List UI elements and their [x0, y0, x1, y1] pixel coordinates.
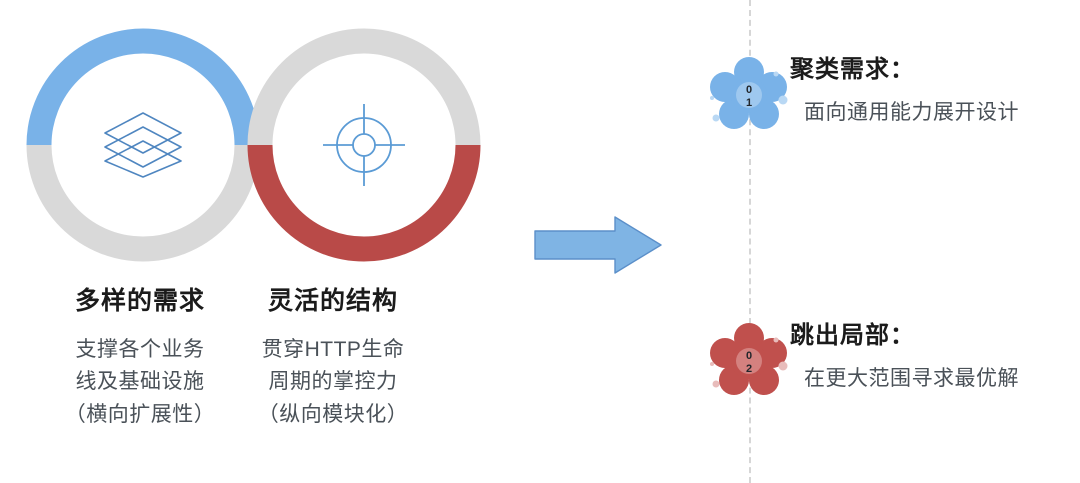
caption-title-2: 灵活的结构 — [238, 288, 428, 316]
flower-badge-01-icon: 0 1 — [706, 52, 792, 138]
caption-line: （纵向模块化） — [238, 399, 428, 432]
badge-number-top: 0 — [746, 350, 752, 362]
caption-column-2: 灵活的结构 贯穿HTTP生命 周期的掌控力 （纵向模块化） — [238, 288, 428, 431]
caption-line: 线及基础设施 — [45, 366, 235, 399]
caption-body-1: 支撑各个业务 线及基础设施 （横向扩展性） — [45, 334, 235, 432]
multi-demand-ring — [22, 24, 264, 266]
point-body-2: 在更大范围寻求最优解 — [804, 365, 1080, 392]
caption-body-2: 贯穿HTTP生命 周期的掌控力 （纵向模块化） — [238, 334, 428, 432]
slide-canvas: 多样的需求 支撑各个业务 线及基础设施 （横向扩展性） 灵活的结构 贯穿HTTP… — [0, 0, 1080, 483]
point-title-1: 聚类需求： — [790, 56, 1080, 85]
point-item-2: 0 2 跳出局部： 在更大范围寻求最优解 — [706, 318, 1080, 438]
caption-column-1: 多样的需求 支撑各个业务 线及基础设施 （横向扩展性） — [45, 288, 235, 431]
point-item-1: 0 1 聚类需求： 面向通用能力展开设计 — [706, 52, 1080, 172]
caption-title-1: 多样的需求 — [45, 288, 235, 316]
caption-line: 周期的掌控力 — [238, 366, 428, 399]
caption-line: 支撑各个业务 — [45, 334, 235, 367]
caption-line: （横向扩展性） — [45, 399, 235, 432]
flexible-structure-ring — [243, 24, 485, 266]
badge-number-top: 0 — [746, 84, 752, 96]
point-body-1: 面向通用能力展开设计 — [804, 99, 1080, 126]
point-text-1: 聚类需求： 面向通用能力展开设计 — [790, 56, 1080, 126]
badge-number-bottom: 1 — [746, 97, 752, 109]
point-text-2: 跳出局部： 在更大范围寻求最优解 — [790, 322, 1080, 392]
right-arrow-icon — [533, 214, 663, 276]
badge-number-bottom: 2 — [746, 363, 752, 375]
flower-badge-02-icon: 0 2 — [706, 318, 792, 404]
point-title-2: 跳出局部： — [790, 322, 1080, 351]
caption-line: 贯穿HTTP生命 — [238, 334, 428, 367]
